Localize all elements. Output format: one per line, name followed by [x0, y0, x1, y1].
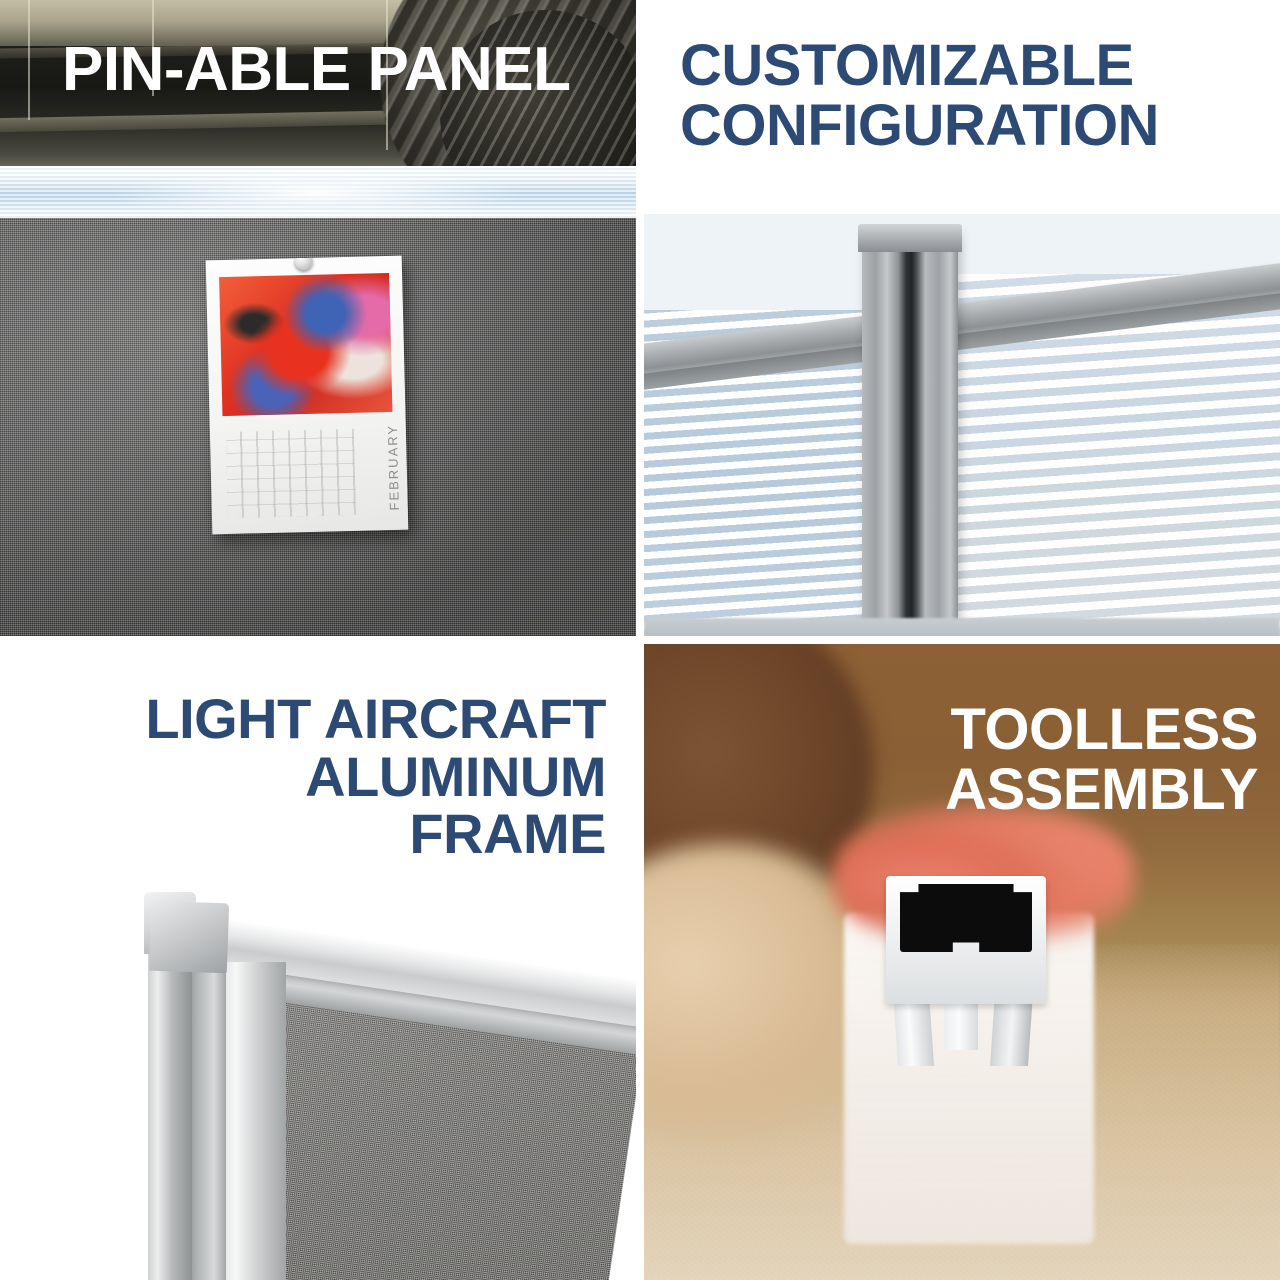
extrusion-channel-cavity: [900, 884, 1032, 952]
divider-post-photo: [644, 214, 1280, 636]
blurred-ear: [764, 664, 894, 824]
calendar-artwork: [219, 273, 392, 416]
aluminum-post-front: [224, 962, 286, 1280]
quadrant-toolless-assembly: TOOLLESS ASSEMBLY: [644, 644, 1280, 1280]
caption-customizable-configuration: CUSTOMIZABLE CONFIGURATION: [680, 36, 1159, 155]
quadrant-light-aircraft-aluminum-frame: LIGHT AIRCRAFT ALUMINUM FRAME: [0, 644, 636, 1280]
caption-toolless-assembly: TOOLLESS ASSEMBLY: [945, 700, 1258, 819]
calendar-month-label: FEBRUARY: [385, 424, 402, 511]
window-sill: [644, 618, 1280, 636]
caption-light-aircraft-aluminum-frame: LIGHT AIRCRAFT ALUMINUM FRAME: [145, 690, 606, 863]
quadrant-pin-able-panel: FEBRUARY PIN-ABLE PANEL: [0, 0, 636, 636]
aluminum-connector-post: [862, 234, 958, 636]
ceiling-hanger-rod: [28, 0, 30, 120]
feature-collage: FEBRUARY PIN-ABLE PANEL CUSTOMIZABLE CON…: [0, 0, 1280, 1280]
aluminum-post-back: [148, 950, 192, 1280]
post-end-cap: [858, 224, 962, 252]
rail-highlight-glow: [114, 168, 521, 218]
calendar-date-grid: [226, 429, 356, 518]
aluminum-corner-bracket: [149, 901, 229, 974]
push-pin-icon: [295, 256, 313, 271]
quadrant-customizable-configuration: CUSTOMIZABLE CONFIGURATION: [644, 0, 1280, 636]
aluminum-post-middle: [186, 944, 226, 1280]
caption-pin-able-panel: PIN-ABLE PANEL: [62, 38, 571, 102]
pinned-calendar-page: FEBRUARY: [206, 256, 409, 535]
